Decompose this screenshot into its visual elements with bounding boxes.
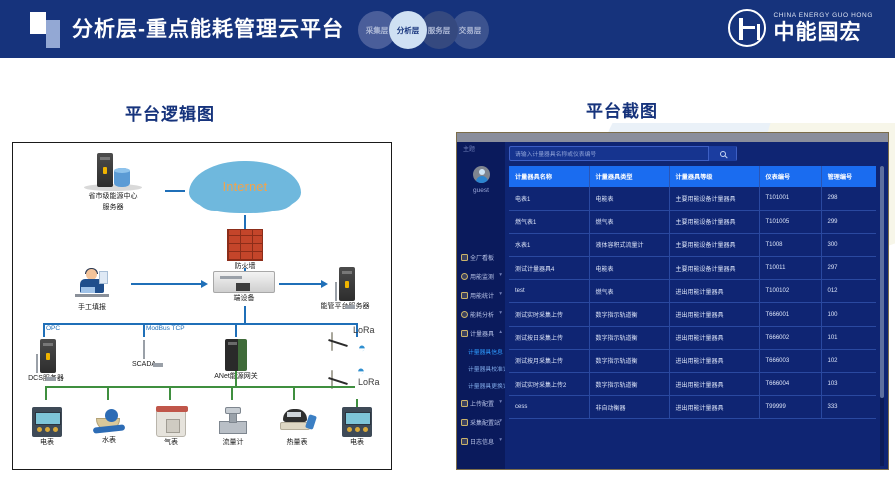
cell-instrument-no: T99999 — [759, 396, 821, 419]
diagram-meter-flow: 流量计 — [213, 407, 253, 448]
cell-grade: 进出用能计量器具 — [669, 373, 759, 396]
table-row[interactable]: 水表1 液体容积式流量计 主要用能设备计量器具 T1008 300 — [509, 233, 876, 256]
sidebar-item-instrument-info[interactable]: 计量器具信息 — [457, 343, 505, 360]
sidebar-item-analysis[interactable]: 能耗分析 ▾ — [457, 305, 505, 324]
table-row[interactable]: 测试按月采集上传 数字指示轨道衡 进出用能计量器具 T666003 102 — [509, 349, 876, 372]
cell-type: 非自动衡器 — [589, 396, 669, 419]
cell-instrument-no: T666001 — [759, 303, 821, 326]
table-row[interactable]: 测试实时采集上传2 数字指示轨道衡 进出用能计量器具 T666004 103 — [509, 373, 876, 396]
cell-name: 测试按日采集上传 — [509, 326, 589, 349]
cell-type: 燃气表 — [589, 210, 669, 233]
lora-node-icon — [331, 332, 333, 351]
layer-circle-label: 采集层 — [366, 25, 389, 36]
link-server-internet — [165, 190, 185, 192]
username-label: guest — [457, 187, 505, 194]
cell-type: 数字指示轨道衡 — [589, 373, 669, 396]
search-button[interactable] — [708, 146, 736, 161]
cell-type: 电能表 — [589, 187, 669, 210]
theme-label[interactable]: 主题 — [463, 144, 475, 153]
diagram-node-platform-server: 能管平台服务器 — [309, 267, 381, 312]
company-logo: CHINA ENERGY GUO HONG 中能国宏 — [728, 9, 873, 47]
server-tower-icon — [40, 339, 56, 373]
table-row[interactable]: test 燃气表 进出用能计量器具 T100102 012 — [509, 280, 876, 303]
diagram-node-dcs-server: DCS服务器 — [15, 339, 77, 384]
gateway-to-meter-bus — [235, 371, 237, 387]
page-header: 分析层-重点能耗管理云平台 采集层 分析层 服务层 交易层 CHINA ENER… — [0, 0, 895, 58]
sidebar-item-calibration-records[interactable]: 计量器具校准记录 — [457, 360, 505, 377]
cell-instrument-no: T666003 — [759, 349, 821, 372]
cell-management-no: 103 — [821, 373, 876, 396]
cell-grade: 进出用能计量器具 — [669, 396, 759, 419]
cell-management-no: 299 — [821, 210, 876, 233]
search-bar[interactable]: 请输入计量器具名称或仪表编号 — [509, 146, 737, 161]
cell-type: 数字指示轨道衡 — [589, 349, 669, 372]
sidebar-item-statistics[interactable]: 用能统计 ▾ — [457, 286, 505, 305]
cell-management-no: 297 — [821, 257, 876, 280]
cell-instrument-no: T10011 — [759, 257, 821, 280]
diagram-meter-water: 水表 — [89, 409, 129, 446]
analysis-icon — [461, 311, 468, 318]
app-sidebar: 主题 guest 全厂看板 用能监测 ▾ 用能统计 ▾ — [457, 142, 505, 470]
electric-meter-icon — [342, 407, 372, 437]
meter-icon — [461, 330, 468, 337]
diagram-meter-electric-2: 电表 — [337, 407, 377, 448]
diagram-meter-electric-1: 电表 — [27, 407, 67, 448]
meter-drop-4 — [231, 386, 233, 400]
chevron-down-icon: ▾ — [499, 292, 502, 298]
table-row[interactable]: 电表1 电能表 主要用能设备计量器具 T101001 298 — [509, 187, 876, 210]
layer-circle-label: 交易层 — [459, 25, 482, 36]
table-row[interactable]: cess 非自动衡器 进出用能计量器具 T99999 333 — [509, 396, 876, 419]
cell-grade: 主要用能设备计量器具 — [669, 233, 759, 256]
right-section-title: 平台截图 — [586, 97, 658, 122]
meter-drop-2 — [107, 386, 109, 400]
layer-circle-analysis[interactable]: 分析层 — [389, 11, 427, 49]
cell-name: 测试实时采集上传 — [509, 303, 589, 326]
diagram-node-label: 省市级能源中心 — [63, 193, 163, 202]
table-column-header[interactable]: 管理编号 — [821, 166, 876, 187]
meter-drop-3 — [169, 386, 171, 400]
protocol-label-opc: OPC — [46, 325, 60, 332]
diagram-node-central-server: 省市级能源中心 服务器 — [63, 153, 163, 213]
diagram-node-scada: SCADA — [117, 341, 171, 370]
cell-type: 数字指示轨道衡 — [589, 326, 669, 349]
cell-management-no: 101 — [821, 326, 876, 349]
table-row[interactable]: 测试实时采集上传 数字指示轨道衡 进出用能计量器具 T666001 100 — [509, 303, 876, 326]
link-internet-firewall — [244, 215, 246, 229]
platform-logic-diagram: 省市级能源中心 服务器 Internet 防火墙 — [12, 142, 392, 470]
bus-drop-scada — [143, 323, 145, 337]
search-icon — [720, 151, 726, 157]
cell-grade: 进出用能计量器具 — [669, 349, 759, 372]
diagram-meter-label: 电表 — [337, 439, 377, 448]
protocol-label-modbus: ModBus TCP — [146, 325, 185, 332]
wifi-signal-icon: ◓ — [357, 364, 365, 377]
layer-circle-group: 采集层 分析层 服务层 交易层 — [358, 11, 482, 49]
link-edge-bus — [244, 306, 246, 324]
table-column-header[interactable]: 计量器具等级 — [669, 166, 759, 187]
cell-grade: 进出用能计量器具 — [669, 326, 759, 349]
diagram-meter-label: 气表 — [151, 439, 191, 448]
chevron-up-icon: ▴ — [499, 330, 502, 336]
diagram-meter-label: 热量表 — [275, 439, 319, 448]
cell-name: test — [509, 280, 589, 303]
search-input[interactable]: 请输入计量器具名称或仪表编号 — [510, 149, 708, 158]
sidebar-menu: 全厂看板 用能监测 ▾ 用能统计 ▾ 能耗分析 ▾ — [457, 248, 505, 451]
link-manual-edge — [131, 283, 203, 285]
cell-name: 测试按月采集上传 — [509, 349, 589, 372]
sidebar-item-label: 全厂看板 — [470, 253, 494, 262]
left-section-title: 平台逻辑图 — [125, 100, 215, 125]
cell-grade: 主要用能设备计量器具 — [669, 210, 759, 233]
avatar[interactable] — [473, 166, 490, 183]
monitor-icon — [143, 341, 145, 359]
sidebar-item-replacement-records[interactable]: 计量器具更换记录 — [457, 377, 505, 394]
cell-name: 电表1 — [509, 187, 589, 210]
cell-name: 燃气表1 — [509, 210, 589, 233]
window-titlebar — [457, 133, 889, 142]
meter-drop-5 — [293, 386, 295, 400]
sidebar-item-label: 上传配置 — [470, 399, 494, 408]
wifi-signal-icon: ◓ — [358, 341, 366, 354]
gateway-icon — [225, 339, 247, 371]
cell-grade: 进出用能计量器具 — [669, 303, 759, 326]
sidebar-item-dashboard[interactable]: 全厂看板 — [457, 248, 505, 267]
table-row[interactable]: 燃气表1 燃气表 主要用能设备计量器具 T101005 299 — [509, 210, 876, 233]
diagram-node-manual-entry: 手工填报 — [57, 268, 127, 313]
diagram-node-lora-1: LoRa ◓ — [331, 333, 391, 367]
diagram-node-lora-2: LoRa ◓ — [331, 371, 391, 405]
sidebar-item-label: 计量器具 — [470, 329, 494, 338]
table-row[interactable]: 测试按日采集上传 数字指示轨道衡 进出用能计量器具 T666002 101 — [509, 326, 876, 349]
table-row[interactable]: 测试计量器具4 电能表 主要用能设备计量器具 T10011 297 — [509, 257, 876, 280]
upload-icon — [461, 400, 468, 407]
diagram-node-label: Internet — [223, 180, 268, 194]
cell-grade: 主要用能设备计量器具 — [669, 257, 759, 280]
cell-type: 液体容积式流量计 — [589, 233, 669, 256]
meter-drop-1 — [45, 386, 47, 400]
monitor-icon — [461, 273, 468, 280]
chart-icon — [461, 292, 468, 299]
sidebar-item-label: 能耗分析 — [470, 310, 494, 319]
cell-name: 水表1 — [509, 233, 589, 256]
sidebar-item-label: 采集配置站 — [470, 418, 500, 427]
server-tower-icon — [339, 267, 355, 301]
sidebar-item-monitoring[interactable]: 用能监测 ▾ — [457, 267, 505, 286]
logo-chinese-name: 中能国宏 — [773, 22, 873, 43]
diagram-meter-heat: 热量表 — [275, 409, 319, 448]
diagram-meter-label: 水表 — [89, 437, 129, 446]
slide-root: 分析层-重点能耗管理云平台 采集层 分析层 服务层 交易层 CHINA ENER… — [0, 0, 895, 504]
monitor-icon — [335, 283, 337, 301]
diagram-meter-gas: 气表 — [151, 409, 191, 448]
diagram-meter-label: 流量计 — [213, 439, 253, 448]
diagram-node-label-2: 服务器 — [63, 204, 163, 213]
cell-instrument-no: T100102 — [759, 280, 821, 303]
cell-instrument-no: T101001 — [759, 187, 821, 210]
cell-management-no: 100 — [821, 303, 876, 326]
chevron-down-icon: ▾ — [499, 273, 502, 279]
cell-grade: 进出用能计量器具 — [669, 280, 759, 303]
chevron-down-icon: ▾ — [499, 438, 502, 444]
chevron-down-icon: ▾ — [499, 311, 502, 317]
flow-meter-icon — [217, 407, 249, 437]
dashboard-icon — [461, 254, 468, 261]
arrow-right-icon — [201, 280, 208, 288]
cell-type: 数字指示轨道衡 — [589, 303, 669, 326]
water-meter-icon — [93, 409, 125, 435]
table-body: 电表1 电能表 主要用能设备计量器具 T101001 298 燃气表1 燃气表 … — [509, 187, 876, 419]
diagram-node-label: 端设备 — [213, 295, 275, 304]
log-icon — [461, 438, 468, 445]
collect-icon — [461, 419, 468, 426]
cell-management-no: 300 — [821, 233, 876, 256]
meter-bus-line — [45, 386, 355, 388]
cell-name: 测试实时采集上传2 — [509, 373, 589, 396]
sidebar-item-label: 计量器具信息 — [468, 347, 503, 356]
cloud-icon: Internet — [189, 161, 301, 213]
sidebar-item-upload-config[interactable]: 上传配置 ▾ — [457, 394, 505, 413]
bus-drop-gateway — [235, 323, 237, 337]
edge-device-icon — [213, 271, 275, 293]
chevron-down-icon: ▾ — [499, 400, 502, 406]
page-title: 分析层-重点能耗管理云平台 — [72, 13, 344, 43]
cell-instrument-no: T1008 — [759, 233, 821, 256]
instruments-table: 计量器具名称 计量器具类型 计量器具等级 仪表编号 管理编号 电表1 电能表 主… — [509, 166, 876, 419]
table-column-header[interactable]: 计量器具类型 — [589, 166, 669, 187]
diagram-node-internet: Internet — [189, 161, 301, 213]
cell-name: 测试计量器具4 — [509, 257, 589, 280]
sidebar-item-measuring-instruments[interactable]: 计量器具 ▴ — [457, 324, 505, 343]
electric-meter-icon — [32, 407, 62, 437]
diagram-node-label: LoRa — [358, 377, 380, 387]
sidebar-item-label: 日志信息 — [470, 437, 494, 446]
sidebar-item-label: 用能统计 — [470, 291, 494, 300]
monitor-icon — [36, 355, 38, 373]
sidebar-item-label: 用能监测 — [470, 272, 494, 281]
logo-tiles-icon — [30, 12, 64, 48]
logo-english-name: CHINA ENERGY GUO HONG — [773, 13, 873, 20]
table-header-row: 计量器具名称 计量器具类型 计量器具等级 仪表编号 管理编号 — [509, 166, 876, 187]
person-icon — [75, 268, 109, 302]
cell-type: 电能表 — [589, 257, 669, 280]
table-column-header[interactable]: 计量器具名称 — [509, 166, 589, 187]
app-content: 请输入计量器具名称或仪表编号 计量器具名称 计量器具类型 计量器具等级 仪表编号 — [505, 142, 889, 470]
sidebar-item-collection-station[interactable]: 采集配置站 ▾ — [457, 413, 505, 432]
cell-grade: 主要用能设备计量器具 — [669, 187, 759, 210]
cell-instrument-no: T666004 — [759, 373, 821, 396]
layer-circle-label: 服务层 — [428, 25, 451, 36]
cell-management-no: 012 — [821, 280, 876, 303]
chevron-down-icon: ▾ — [499, 419, 502, 425]
cell-management-no: 333 — [821, 396, 876, 419]
layer-circle-label: 分析层 — [397, 25, 420, 36]
sidebar-item-logs[interactable]: 日志信息 ▾ — [457, 432, 505, 451]
diagram-node-firewall: 防火墙 — [227, 229, 263, 272]
cell-name: cess — [509, 396, 589, 419]
database-icon — [114, 168, 130, 187]
protocol-bus-line — [43, 323, 358, 325]
bus-drop-dcs — [43, 323, 45, 337]
heat-meter-icon — [280, 409, 314, 437]
platform-screenshot: 主题 guest 全厂看板 用能监测 ▾ 用能统计 ▾ — [456, 132, 889, 470]
cell-instrument-no: T101005 — [759, 210, 821, 233]
gas-meter-icon — [156, 409, 186, 437]
diagram-node-edge-device: 端设备 — [213, 271, 275, 304]
diagram-node-label: LoRa — [353, 325, 375, 335]
logo-mark-icon — [728, 9, 766, 47]
cell-type: 燃气表 — [589, 280, 669, 303]
firewall-icon — [227, 229, 263, 261]
scrollbar-thumb[interactable] — [880, 166, 884, 398]
cell-management-no: 102 — [821, 349, 876, 372]
diagram-meter-label: 电表 — [27, 439, 67, 448]
diagram-node-label: 手工填报 — [57, 304, 127, 313]
cell-instrument-no: T666002 — [759, 326, 821, 349]
cell-management-no: 298 — [821, 187, 876, 210]
server-tower-icon — [97, 153, 113, 187]
table-column-header[interactable]: 仪表编号 — [759, 166, 821, 187]
